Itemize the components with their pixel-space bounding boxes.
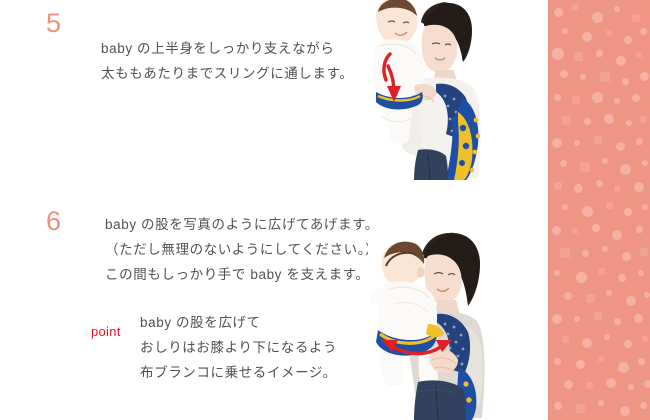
step-number-5: 5 — [46, 10, 61, 37]
point-text: baby の股を広げて おしりはお膝より下になるよう 布ブランコに乗せるイメージ… — [140, 310, 337, 385]
step-5-line-1: baby の上半身をしっかり支えながら — [101, 36, 353, 61]
point-line-3: 布ブランコに乗せるイメージ。 — [140, 360, 337, 385]
point-line-1: baby の股を広げて — [140, 310, 337, 335]
photo-step-5 — [362, 0, 490, 180]
step-6-text: baby の股を写真のように広げてあげます。 （ただし無理のないようにしてくださ… — [105, 212, 379, 287]
polka-dot-decoration-panel — [548, 0, 650, 420]
instruction-page: 5 baby の上半身をしっかり支えながら 太ももあたりまでスリングに通します。 — [0, 0, 650, 420]
step-5-line-2: 太ももあたりまでスリングに通します。 — [101, 61, 353, 86]
step-6-line-1: baby の股を写真のように広げてあげます。 — [105, 212, 379, 237]
photo-step-6 — [368, 232, 494, 420]
step-5-text: baby の上半身をしっかり支えながら 太ももあたりまでスリングに通します。 — [101, 36, 353, 86]
step-number-6: 6 — [46, 208, 61, 235]
point-line-2: おしりはお膝より下になるよう — [140, 335, 337, 360]
step-6-line-3: この間もしっかり手で baby を支えます。 — [105, 262, 379, 287]
step-6-line-2: （ただし無理のないようにしてください。） — [105, 237, 379, 262]
point-label: point — [91, 325, 121, 338]
